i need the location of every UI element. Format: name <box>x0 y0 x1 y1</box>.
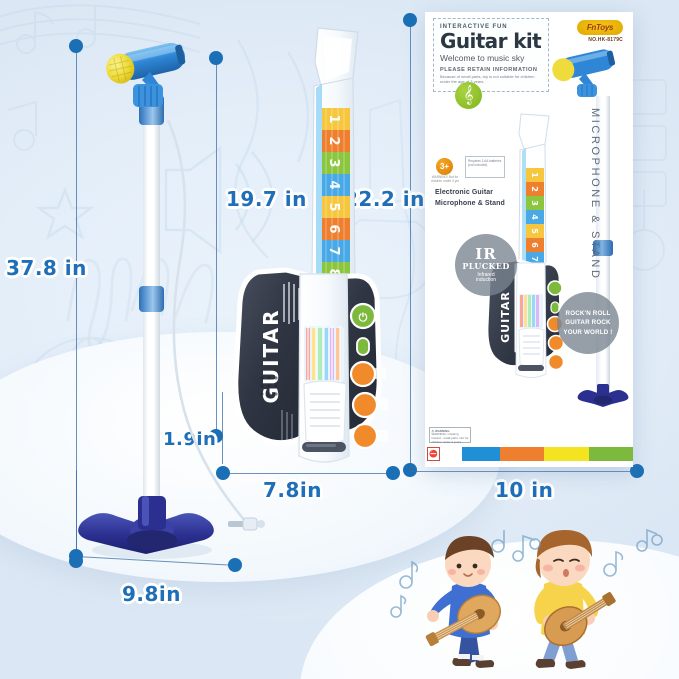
kids-illustration <box>380 528 670 678</box>
svg-text:7: 7 <box>326 246 341 255</box>
age-badge-caption: WARNING! Not for children under 3 yrs <box>430 176 460 184</box>
dimension-endpoint-package-top <box>403 13 417 27</box>
package-color-strip <box>425 447 633 461</box>
svg-text:7: 7 <box>530 256 539 262</box>
sound-button-1 <box>351 362 375 386</box>
package-subtitle: Welcome to music sky <box>440 53 542 63</box>
dimension-endpoint-base-right <box>228 558 242 572</box>
dimension-endpoint-package-bottom <box>403 463 417 477</box>
dimension-label-stand-height: 37.8 in <box>6 256 87 280</box>
package-fret-keys: 1 2 3 4 5 6 7 <box>526 168 544 265</box>
treble-clef-icon: 𝄞 <box>455 82 482 109</box>
svg-text:3: 3 <box>530 200 539 206</box>
package-bottom-warning: ⚠ WARNING WARNING: Choking hazard - smal… <box>429 427 471 443</box>
dimension-label-base-width: 9.8in <box>122 582 181 606</box>
svg-text:4: 4 <box>326 180 341 189</box>
sound-button-3 <box>353 424 377 448</box>
dimension-line-package-width <box>410 471 637 472</box>
svg-text:1: 1 <box>530 172 539 178</box>
microphone-stand-base <box>76 496 229 560</box>
guitar-body-text: GUITAR <box>259 308 283 403</box>
package-small-parts-warning: Because of small parts, toy is not suita… <box>440 74 542 84</box>
infographic-canvas: 37.8 in 19.7 in 22.2 in 1.9in 7.8in 9.8i… <box>0 0 679 679</box>
ir-plucked-badge: IR PLUCKED Infrared induction <box>455 234 517 296</box>
no-fire-icon: ⛔ <box>427 447 440 461</box>
product-package-box: INTERACTIVE FUN Guitar kit Welcome to mu… <box>425 12 633 467</box>
rock-n-roll-badge: ROCK'N ROLL GUITAR ROCK YOUR WORLD ! <box>557 292 619 354</box>
brand-logo: FnToys <box>577 20 623 35</box>
boy-left-playing-guitar <box>419 536 507 668</box>
package-microphone-image <box>539 42 629 98</box>
age-badge: 3+ <box>436 158 453 175</box>
package-header-card: INTERACTIVE FUN Guitar kit Welcome to mu… <box>433 18 549 92</box>
package-title: Guitar kit <box>440 31 542 51</box>
svg-text:2: 2 <box>530 186 539 192</box>
audio-jack <box>228 516 268 532</box>
svg-text:5: 5 <box>530 228 539 234</box>
microphone-clamp <box>131 82 165 109</box>
svg-text:2: 2 <box>326 136 341 145</box>
toy-guitar: 1 2 3 4 5 6 7 8 GUITAR <box>222 26 397 466</box>
sound-button-2 <box>353 393 377 417</box>
mode-button <box>357 338 369 355</box>
svg-text:5: 5 <box>326 202 341 211</box>
svg-text:6: 6 <box>326 224 341 233</box>
dimension-endpoint-guitar-top <box>209 51 223 65</box>
dimension-label-package-width: 10 in <box>495 478 553 502</box>
ir-badge-line1: IR <box>475 247 496 263</box>
dimension-line-package-height <box>410 20 411 470</box>
ir-badge-line4: induction <box>476 278 496 283</box>
package-bottom-warning-text: WARNING: Choking hazard - small parts. N… <box>432 432 469 444</box>
music-note-doodles <box>391 530 662 617</box>
svg-text:1: 1 <box>326 114 341 123</box>
fret-keys: 1 2 3 4 5 6 7 8 <box>322 108 350 284</box>
package-retain-line: PLEASE RETAIN INFORMATION <box>440 67 542 73</box>
svg-text:4: 4 <box>530 214 539 220</box>
dimension-endpoint-stand-top <box>69 39 83 53</box>
boy-right-playing-guitar <box>534 530 623 669</box>
svg-text:6: 6 <box>530 242 539 248</box>
svg-text:3: 3 <box>326 158 341 167</box>
dimension-endpoint-guitar-right <box>386 466 400 480</box>
ir-badge-line2: PLUCKED <box>462 262 509 270</box>
svg-text:GUITAR: GUITAR <box>499 291 512 343</box>
background-doodle-star <box>30 180 100 250</box>
svg-text:⏻: ⏻ <box>359 311 368 324</box>
